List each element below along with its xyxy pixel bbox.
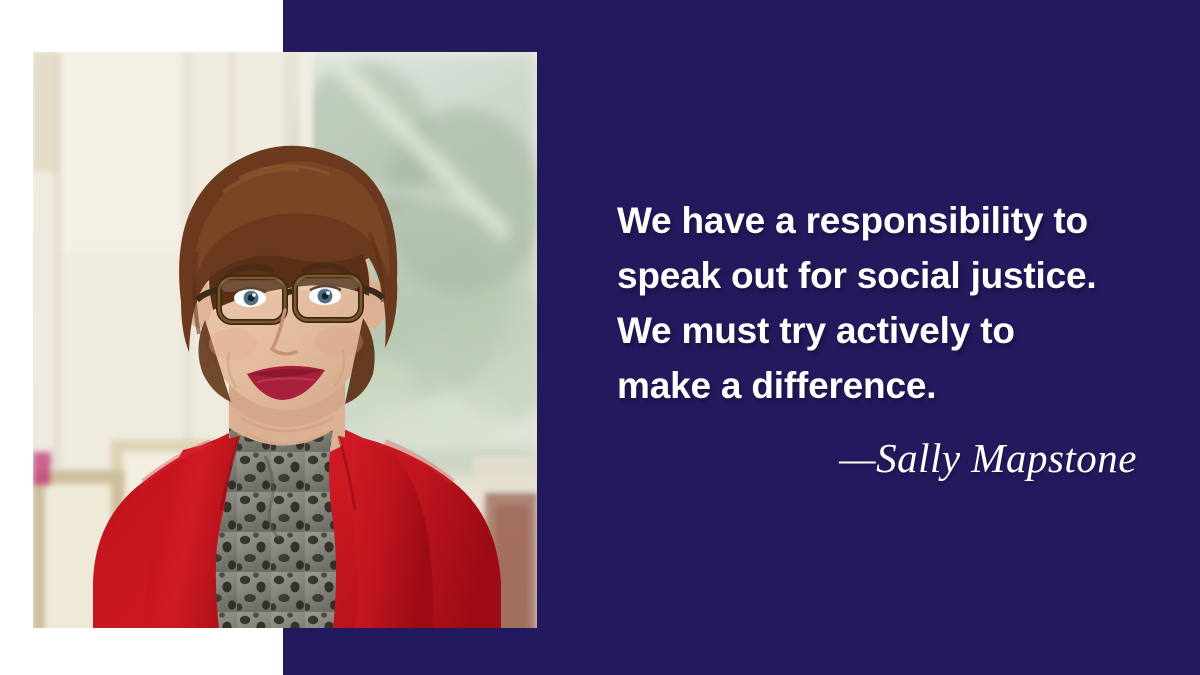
quote-attribution: —Sally Mapstone <box>617 432 1137 484</box>
portrait-photo <box>33 52 537 628</box>
slide-canvas: LEADERSHIP QUOTE OF THE WEEK <box>0 0 1200 675</box>
quote-line: We must try actively to <box>617 303 1137 358</box>
quote-line: We have a responsibility to <box>617 193 1137 248</box>
quote-line: speak out for social justice. <box>617 248 1137 303</box>
quote-text: We have a responsibility to speak out fo… <box>617 193 1137 413</box>
vertical-banner: LEADERSHIP QUOTE OF THE WEEK <box>0 0 36 675</box>
quote-line: make a difference. <box>617 358 1137 413</box>
portrait-illustration <box>33 52 537 628</box>
